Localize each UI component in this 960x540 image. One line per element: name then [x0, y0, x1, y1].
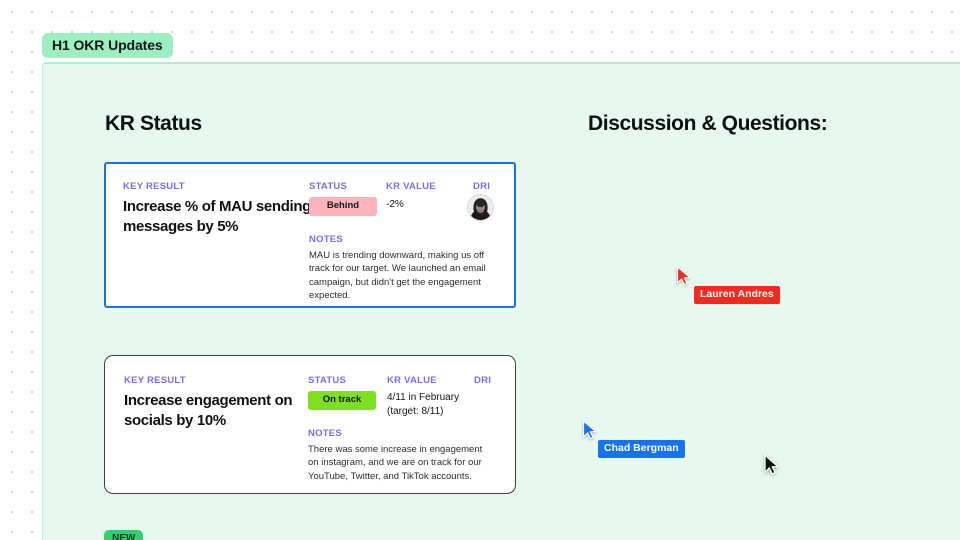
- collaborator-name-label: Lauren Andres: [694, 286, 780, 304]
- status-badge-new[interactable]: NEW: [104, 530, 143, 540]
- label-status: STATUS: [309, 181, 347, 192]
- kr-notes: MAU is trending downward, making us off …: [309, 249, 489, 303]
- cursor-arrow-icon: [582, 420, 598, 440]
- label-key-result: KEY RESULT: [123, 181, 185, 192]
- kr-notes: There was some increase in engagement on…: [308, 443, 488, 483]
- label-dri: DRI: [473, 181, 490, 192]
- label-notes: NOTES: [308, 428, 342, 439]
- slide-frame[interactable]: KR Status Discussion & Questions: KEY RE…: [42, 62, 960, 540]
- label-dri: DRI: [474, 375, 491, 386]
- mouse-pointer-icon: [763, 454, 780, 476]
- kr-value: -2%: [386, 198, 404, 212]
- label-key-result: KEY RESULT: [124, 375, 186, 386]
- kr-card[interactable]: KEY RESULT Increase engagement on social…: [104, 355, 516, 494]
- avatar[interactable]: [468, 195, 493, 220]
- cursor-arrow-icon: [676, 266, 692, 286]
- label-status: STATUS: [308, 375, 346, 386]
- status-badge[interactable]: On track: [308, 391, 376, 410]
- frame-title-chip[interactable]: H1 OKR Updates: [42, 33, 173, 58]
- label-kr-value: KR VALUE: [387, 375, 437, 386]
- status-badge[interactable]: Behind: [309, 197, 377, 216]
- kr-title: Increase % of MAU sending messages by 5%: [123, 197, 323, 236]
- page-title-discussion: Discussion & Questions:: [588, 112, 827, 136]
- label-notes: NOTES: [309, 234, 343, 245]
- kr-card[interactable]: KEY RESULT Increase % of MAU sending mes…: [104, 162, 516, 308]
- collaborator-name-label: Chad Bergman: [598, 440, 685, 458]
- label-kr-value: KR VALUE: [386, 181, 436, 192]
- kr-title: Increase engagement on socials by 10%: [124, 391, 319, 430]
- kr-value: 4/11 in February (target: 8/11): [387, 391, 459, 419]
- page-title-kr-status: KR Status: [105, 112, 202, 136]
